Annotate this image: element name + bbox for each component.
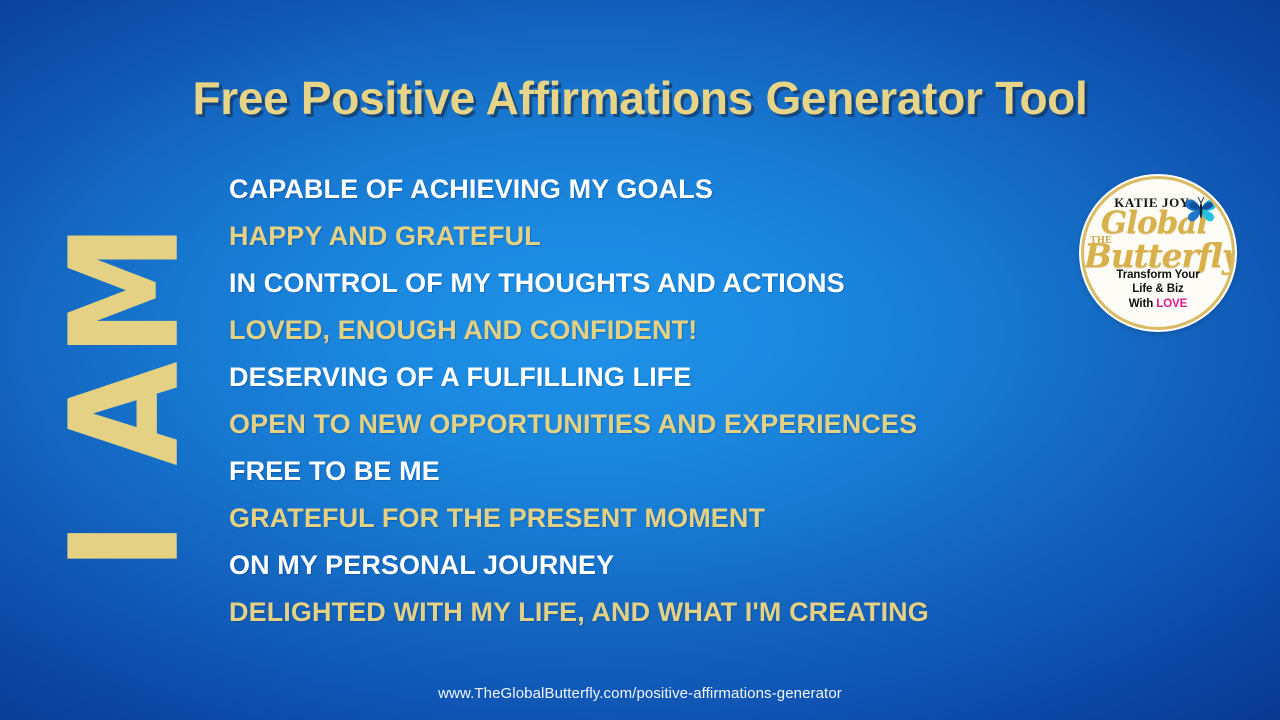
i-am-stem-block: I AM [52,175,200,615]
affirmation-line: IN CONTROL OF MY THOUGHTS AND ACTIONS [229,260,1169,307]
logo-tagline-line-2: Life & Biz [1084,282,1232,297]
affirmation-line: CAPABLE OF ACHIEVING MY GOALS [229,166,1169,213]
affirmation-line: GRATEFUL FOR THE PRESENT MOMENT [229,495,1169,542]
affirmation-line: FREE TO BE ME [229,448,1169,495]
i-am-stem-label: I AM [55,219,198,571]
butterfly-icon [1184,195,1218,225]
brand-logo-badge[interactable]: THE KATIE JOY Global Butterfly Transform… [1081,176,1235,330]
affirmation-line: DELIGHTED WITH MY LIFE, AND WHAT I'M CRE… [229,589,1169,636]
logo-tagline-prefix: With [1129,298,1157,310]
affirmation-list: CAPABLE OF ACHIEVING MY GOALSHAPPY AND G… [229,166,1169,636]
affirmation-line: ON MY PERSONAL JOURNEY [229,542,1169,589]
logo-tagline-love-accent: LOVE [1156,298,1187,310]
logo-tagline: Transform Your Life & Biz With LOVE [1084,268,1232,312]
page-title: Free Positive Affirmations Generator Too… [0,71,1280,125]
logo-tagline-line-1: Transform Your [1084,268,1232,283]
affirmation-line: LOVED, ENOUGH AND CONFIDENT! [229,307,1169,354]
footer-url[interactable]: www.TheGlobalButterfly.com/positive-affi… [0,685,1280,702]
affirmation-line: HAPPY AND GRATEFUL [229,213,1169,260]
affirmation-line: DESERVING OF A FULFILLING LIFE [229,354,1169,401]
affirmations-poster: Free Positive Affirmations Generator Too… [0,0,1280,720]
affirmation-line: OPEN TO NEW OPPORTUNITIES AND EXPERIENCE… [229,401,1169,448]
logo-tagline-line-3: With LOVE [1084,297,1232,312]
